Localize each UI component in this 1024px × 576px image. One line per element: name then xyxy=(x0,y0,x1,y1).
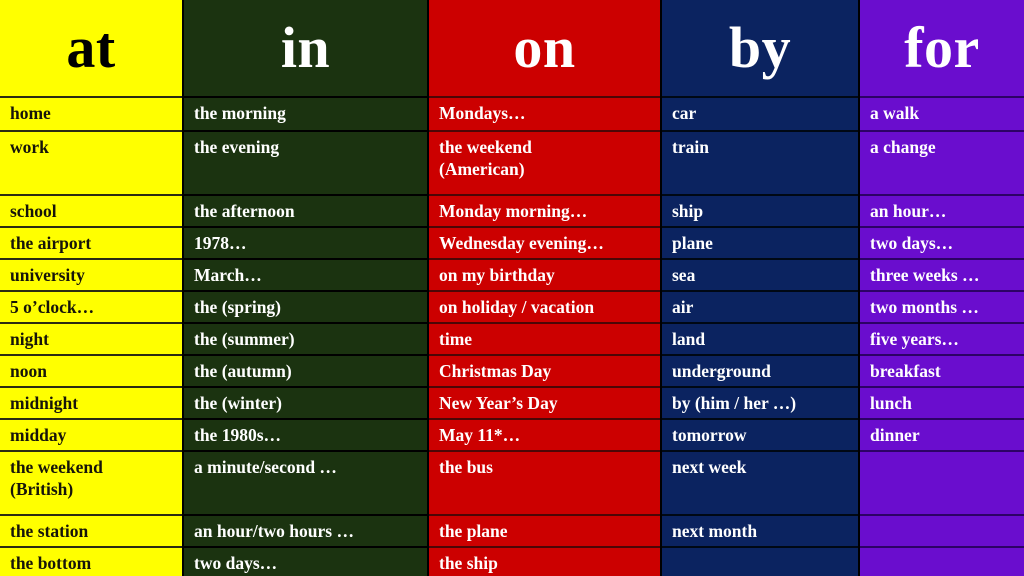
table-cell: May 11*… xyxy=(429,418,660,450)
table-cell: home xyxy=(0,96,182,130)
table-cell: the afternoon xyxy=(184,194,427,226)
column-header-for: for xyxy=(860,0,1024,96)
table-cell: the 1980s… xyxy=(184,418,427,450)
table-cell: an hour/two hours … xyxy=(184,514,427,546)
table-cell: train xyxy=(662,130,858,194)
table-cell: by (him / her …) xyxy=(662,386,858,418)
table-cell: Christmas Day xyxy=(429,354,660,386)
table-cell: land xyxy=(662,322,858,354)
column-cells-on: Mondays… the weekend (American) Monday m… xyxy=(429,96,660,576)
table-cell: the (summer) xyxy=(184,322,427,354)
table-cell: 1978… xyxy=(184,226,427,258)
table-cell: tomorrow xyxy=(662,418,858,450)
table-cell: March… xyxy=(184,258,427,290)
table-cell: work xyxy=(0,130,182,194)
column-on: on Mondays… the weekend (American) Monda… xyxy=(427,0,660,576)
column-cells-at: home work school the airport university … xyxy=(0,96,182,576)
table-cell: Wednesday evening… xyxy=(429,226,660,258)
table-cell: night xyxy=(0,322,182,354)
table-cell: ship xyxy=(662,194,858,226)
table-cell: school xyxy=(0,194,182,226)
table-cell: two days… xyxy=(860,226,1024,258)
table-cell: the evening xyxy=(184,130,427,194)
table-cell: midnight xyxy=(0,386,182,418)
table-cell: the weekend (British) xyxy=(0,450,182,514)
table-cell: underground xyxy=(662,354,858,386)
table-cell: university xyxy=(0,258,182,290)
column-for: for a walk a change an hour… two days… t… xyxy=(858,0,1024,576)
table-cell: 5 o’clock… xyxy=(0,290,182,322)
table-cell: noon xyxy=(0,354,182,386)
table-cell: the airport xyxy=(0,226,182,258)
table-cell: a walk xyxy=(860,96,1024,130)
column-by: by car train ship plane sea air land und… xyxy=(660,0,858,576)
table-cell xyxy=(860,514,1024,546)
table-cell: air xyxy=(662,290,858,322)
column-at: at home work school the airport universi… xyxy=(0,0,182,576)
column-header-at: at xyxy=(0,0,182,96)
table-cell: breakfast xyxy=(860,354,1024,386)
table-cell: a change xyxy=(860,130,1024,194)
table-cell: lunch xyxy=(860,386,1024,418)
table-cell: time xyxy=(429,322,660,354)
table-cell: the ship xyxy=(429,546,660,576)
table-cell: next month xyxy=(662,514,858,546)
table-cell: New Year’s Day xyxy=(429,386,660,418)
column-cells-for: a walk a change an hour… two days… three… xyxy=(860,96,1024,576)
column-header-on: on xyxy=(429,0,660,96)
column-header-by: by xyxy=(662,0,858,96)
table-cell: the (winter) xyxy=(184,386,427,418)
table-cell: dinner xyxy=(860,418,1024,450)
table-cell xyxy=(860,546,1024,576)
table-cell: a minute/second … xyxy=(184,450,427,514)
table-cell: the bottom xyxy=(0,546,182,576)
preposition-table: at home work school the airport universi… xyxy=(0,0,1024,576)
table-cell xyxy=(860,450,1024,514)
column-cells-by: car train ship plane sea air land underg… xyxy=(662,96,858,576)
column-header-in: in xyxy=(184,0,427,96)
table-cell: midday xyxy=(0,418,182,450)
table-cell: the morning xyxy=(184,96,427,130)
table-cell: five years… xyxy=(860,322,1024,354)
table-cell: the (spring) xyxy=(184,290,427,322)
table-cell: on my birthday xyxy=(429,258,660,290)
table-cell: the plane xyxy=(429,514,660,546)
table-cell: an hour… xyxy=(860,194,1024,226)
table-cell: next week xyxy=(662,450,858,514)
table-cell: two days… xyxy=(184,546,427,576)
table-cell: car xyxy=(662,96,858,130)
table-cell: sea xyxy=(662,258,858,290)
table-cell: two months … xyxy=(860,290,1024,322)
column-in: in the morning the evening the afternoon… xyxy=(182,0,427,576)
table-cell: Mondays… xyxy=(429,96,660,130)
table-cell: on holiday / vacation xyxy=(429,290,660,322)
table-cell: plane xyxy=(662,226,858,258)
table-cell: three weeks … xyxy=(860,258,1024,290)
table-cell: the (autumn) xyxy=(184,354,427,386)
table-cell: the weekend (American) xyxy=(429,130,660,194)
column-cells-in: the morning the evening the afternoon 19… xyxy=(184,96,427,576)
table-cell xyxy=(662,546,858,576)
table-cell: the bus xyxy=(429,450,660,514)
table-cell: Monday morning… xyxy=(429,194,660,226)
table-cell: the station xyxy=(0,514,182,546)
